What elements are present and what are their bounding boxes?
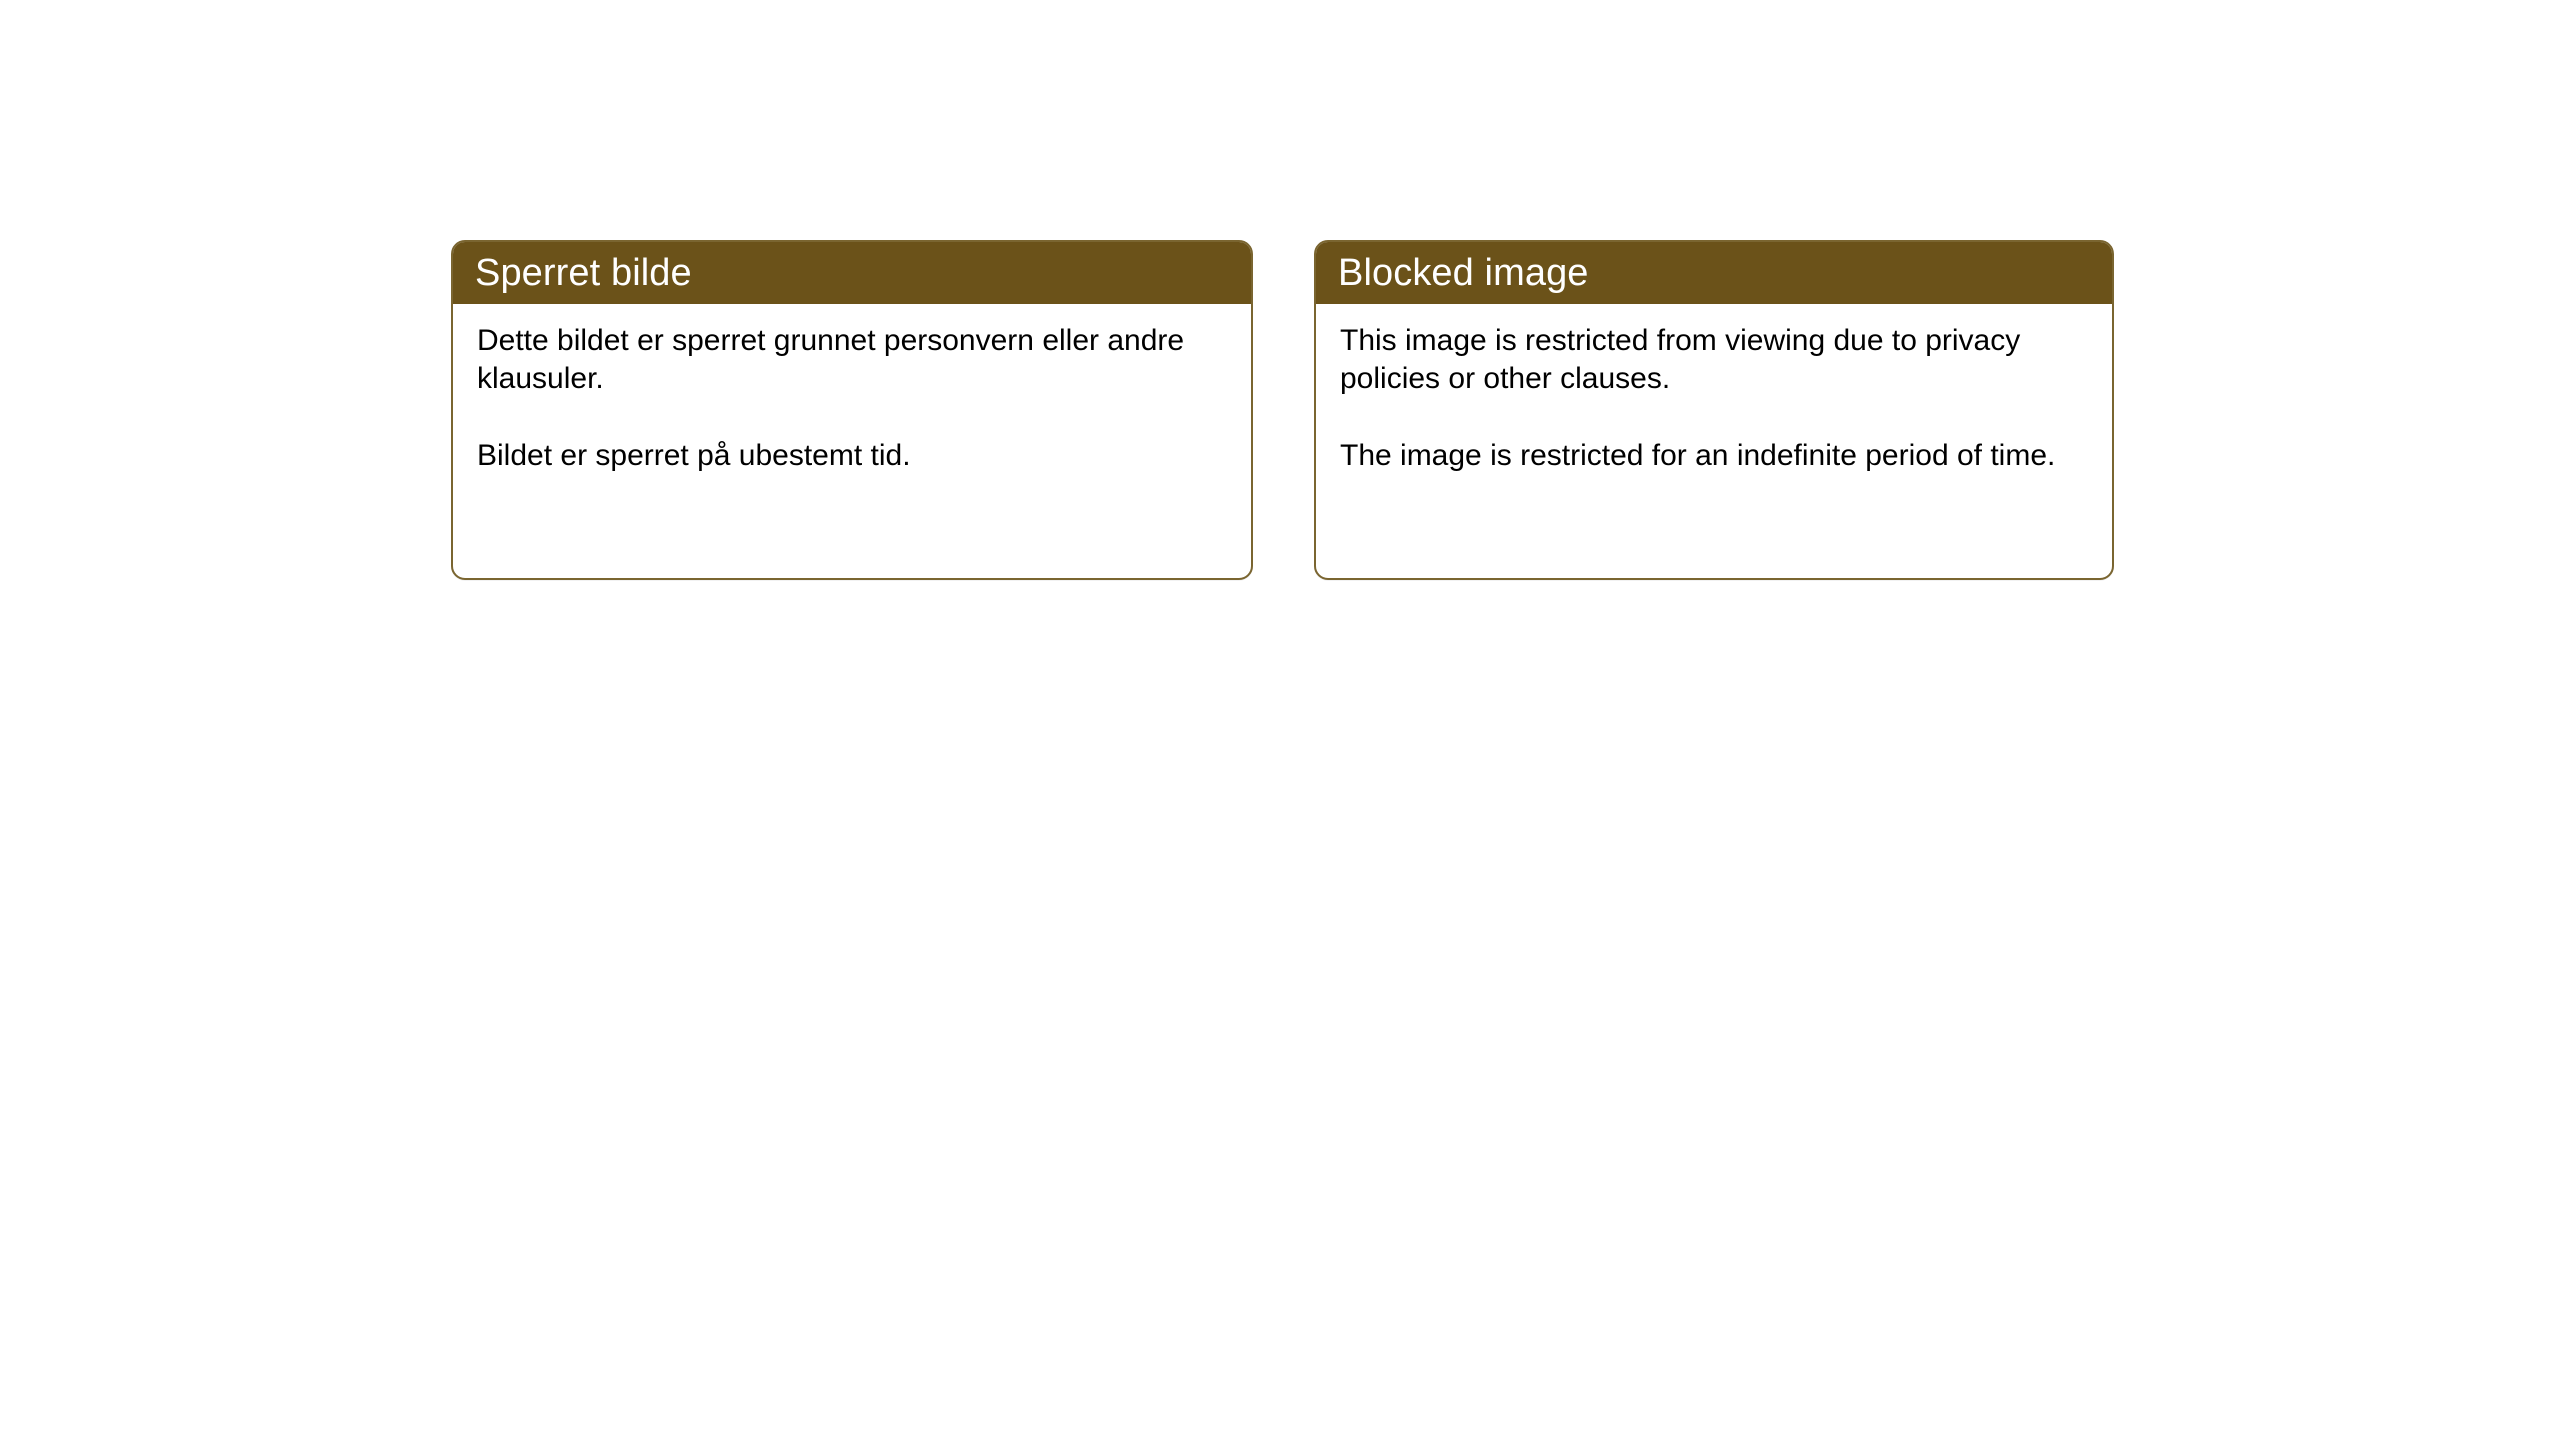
card-body-en: This image is restricted from viewing du… [1316, 304, 2112, 475]
blocked-image-notice-card-nb: Sperret bilde Dette bildet er sperret gr… [451, 240, 1253, 580]
card-paragraph-primary-nb: Dette bildet er sperret grunnet personve… [477, 322, 1227, 399]
card-title-nb: Sperret bilde [475, 254, 692, 292]
card-paragraph-primary-en: This image is restricted from viewing du… [1340, 322, 2088, 399]
card-header-nb: Sperret bilde [453, 242, 1251, 304]
blocked-image-notice-card-en: Blocked image This image is restricted f… [1314, 240, 2114, 580]
card-paragraph-secondary-nb: Bildet er sperret på ubestemt tid. [477, 437, 1227, 475]
card-paragraph-secondary-en: The image is restricted for an indefinit… [1340, 437, 2088, 475]
card-header-en: Blocked image [1316, 242, 2112, 304]
page-root: Sperret bilde Dette bildet er sperret gr… [0, 0, 2560, 1440]
card-title-en: Blocked image [1338, 254, 1589, 292]
card-body-nb: Dette bildet er sperret grunnet personve… [453, 304, 1251, 475]
